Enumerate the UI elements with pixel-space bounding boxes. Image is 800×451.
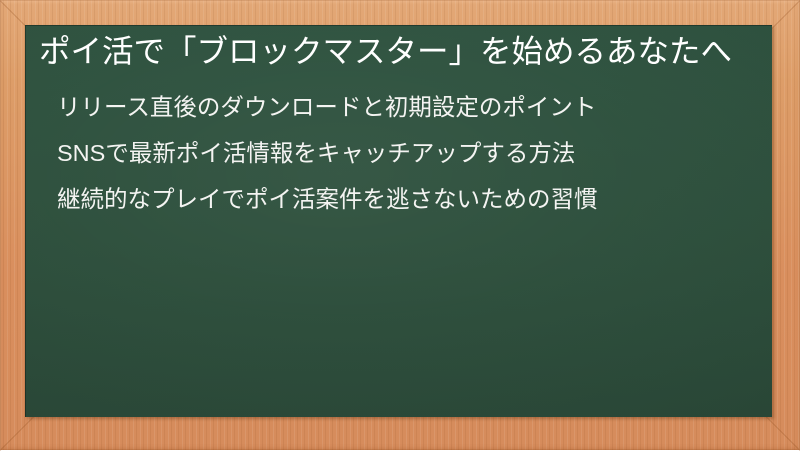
list-item: SNSで最新ポイ活情報をキャッチアップする方法 bbox=[57, 138, 750, 170]
blackboard-frame: ポイ活で「ブロックマスター」を始めるあなたへ リリース直後のダウンロードと初期設… bbox=[0, 0, 800, 450]
list-item: リリース直後のダウンロードと初期設定のポイント bbox=[57, 92, 750, 124]
list-item: 継続的なプレイでポイ活案件を逃さないための習慣 bbox=[57, 184, 750, 216]
board-topic-list: リリース直後のダウンロードと初期設定のポイント SNSで最新ポイ活情報をキャッチ… bbox=[33, 92, 750, 216]
board-title: ポイ活で「ブロックマスター」を始めるあなたへ bbox=[33, 31, 750, 72]
chalkboard-surface: ポイ活で「ブロックマスター」を始めるあなたへ リリース直後のダウンロードと初期設… bbox=[25, 25, 772, 417]
chalkboard-content: ポイ活で「ブロックマスター」を始めるあなたへ リリース直後のダウンロードと初期設… bbox=[25, 25, 772, 417]
